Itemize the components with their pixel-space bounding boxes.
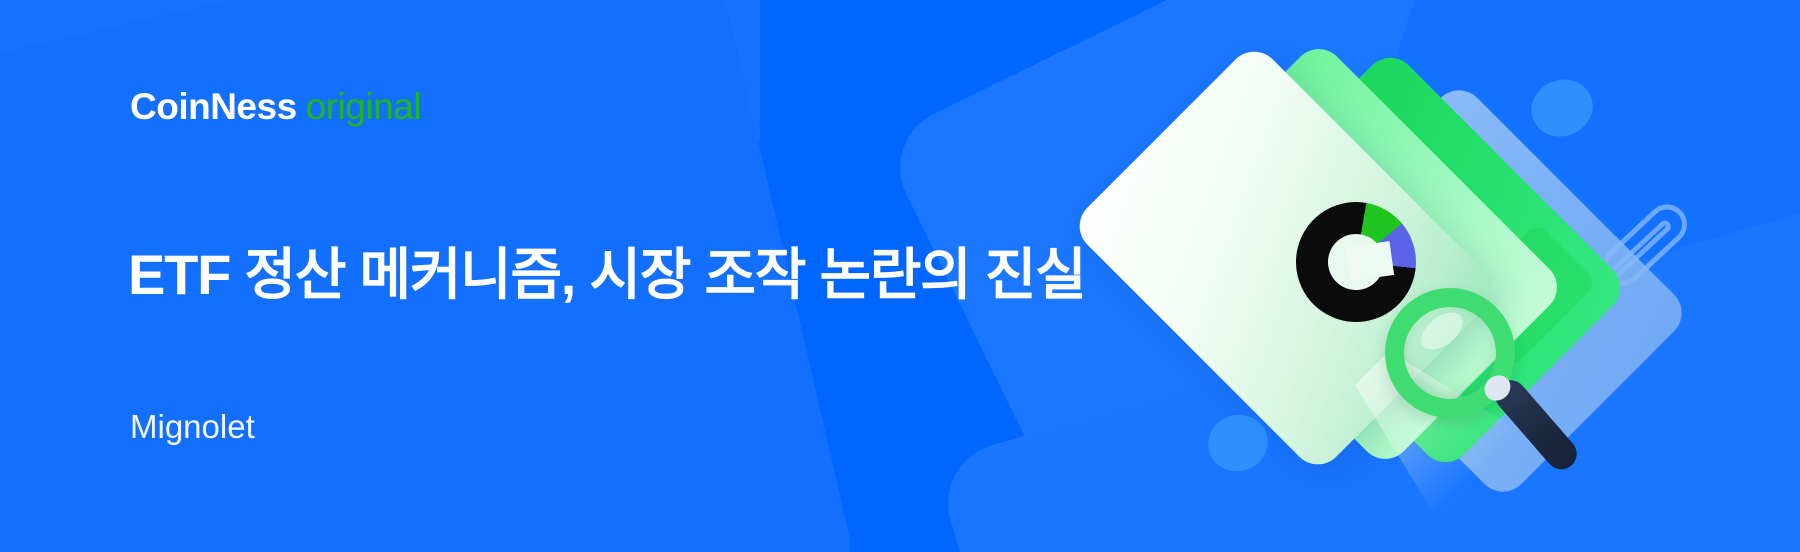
magnifying-glass-icon bbox=[1385, 288, 1537, 440]
article-hero-banner: CoinNessoriginal ETF 정산 메커니즘, 시장 조작 논란의 … bbox=[0, 0, 1800, 552]
pie-chart-opening bbox=[1346, 241, 1394, 281]
magnifier-gloss bbox=[1414, 305, 1469, 357]
ring-inner-disc bbox=[1523, 70, 1601, 145]
brand-logo[interactable]: CoinNessoriginal bbox=[130, 86, 421, 128]
hero-illustration bbox=[1135, 20, 1800, 540]
brand-tagline: original bbox=[306, 86, 421, 127]
brand-name: CoinNess bbox=[130, 86, 297, 127]
page-title: ETF 정산 메커니즘, 시장 조작 논란의 진실 bbox=[128, 243, 1085, 307]
author-name: Mignolet bbox=[130, 408, 255, 446]
